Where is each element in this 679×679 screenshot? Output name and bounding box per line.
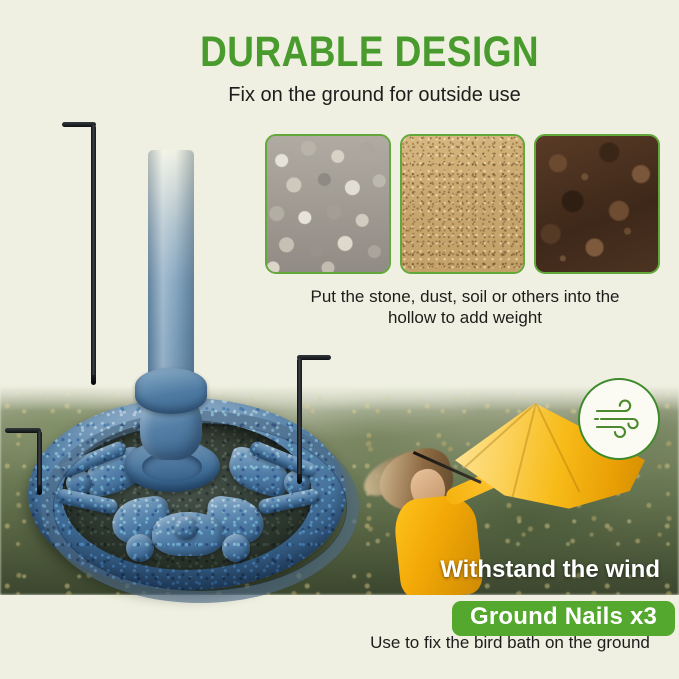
fill-caption-line-2: hollow to add weight xyxy=(265,307,665,328)
nail-hook xyxy=(5,428,41,433)
fill-instruction-caption: Put the stone, dust, soil or others into… xyxy=(265,286,665,328)
nail-hook xyxy=(297,355,331,360)
photo-top-fade xyxy=(0,385,679,411)
page-subtitle: Fix on the ground for outside use xyxy=(0,84,679,107)
pole-shading xyxy=(148,150,194,390)
swatch-stone-gravel xyxy=(265,134,391,274)
fill-caption-line-1: Put the stone, dust, soil or others into… xyxy=(265,286,665,307)
ground-nails-badge: Ground Nails x3 xyxy=(452,601,675,636)
wind-icon xyxy=(592,399,646,439)
fill-material-swatches xyxy=(265,134,660,274)
umbrella-rib xyxy=(510,403,537,504)
swatch-soil-dirt xyxy=(534,134,660,274)
umbrella-rib xyxy=(535,403,580,493)
product-infographic: DURABLE DESIGN Fix on the ground for out… xyxy=(0,0,679,679)
gravel-texture xyxy=(267,136,389,272)
umbrella-rib xyxy=(457,402,537,474)
nail-tip xyxy=(91,375,96,385)
nail-tip xyxy=(37,485,42,495)
pole-collar xyxy=(135,368,207,414)
nail-tip xyxy=(297,474,302,484)
sand-texture xyxy=(402,136,524,272)
swatch-sand-dust xyxy=(400,134,526,274)
nail-shaft xyxy=(297,358,302,476)
wind-badge xyxy=(578,378,660,460)
ground-nails-caption: Use to fix the bird bath on the ground xyxy=(350,633,670,653)
nail-shaft xyxy=(37,431,42,487)
soil-texture xyxy=(536,136,658,272)
withstand-wind-label: Withstand the wind xyxy=(330,556,660,584)
nail-shaft xyxy=(91,125,96,377)
page-title: DURABLE DESIGN xyxy=(48,28,632,77)
